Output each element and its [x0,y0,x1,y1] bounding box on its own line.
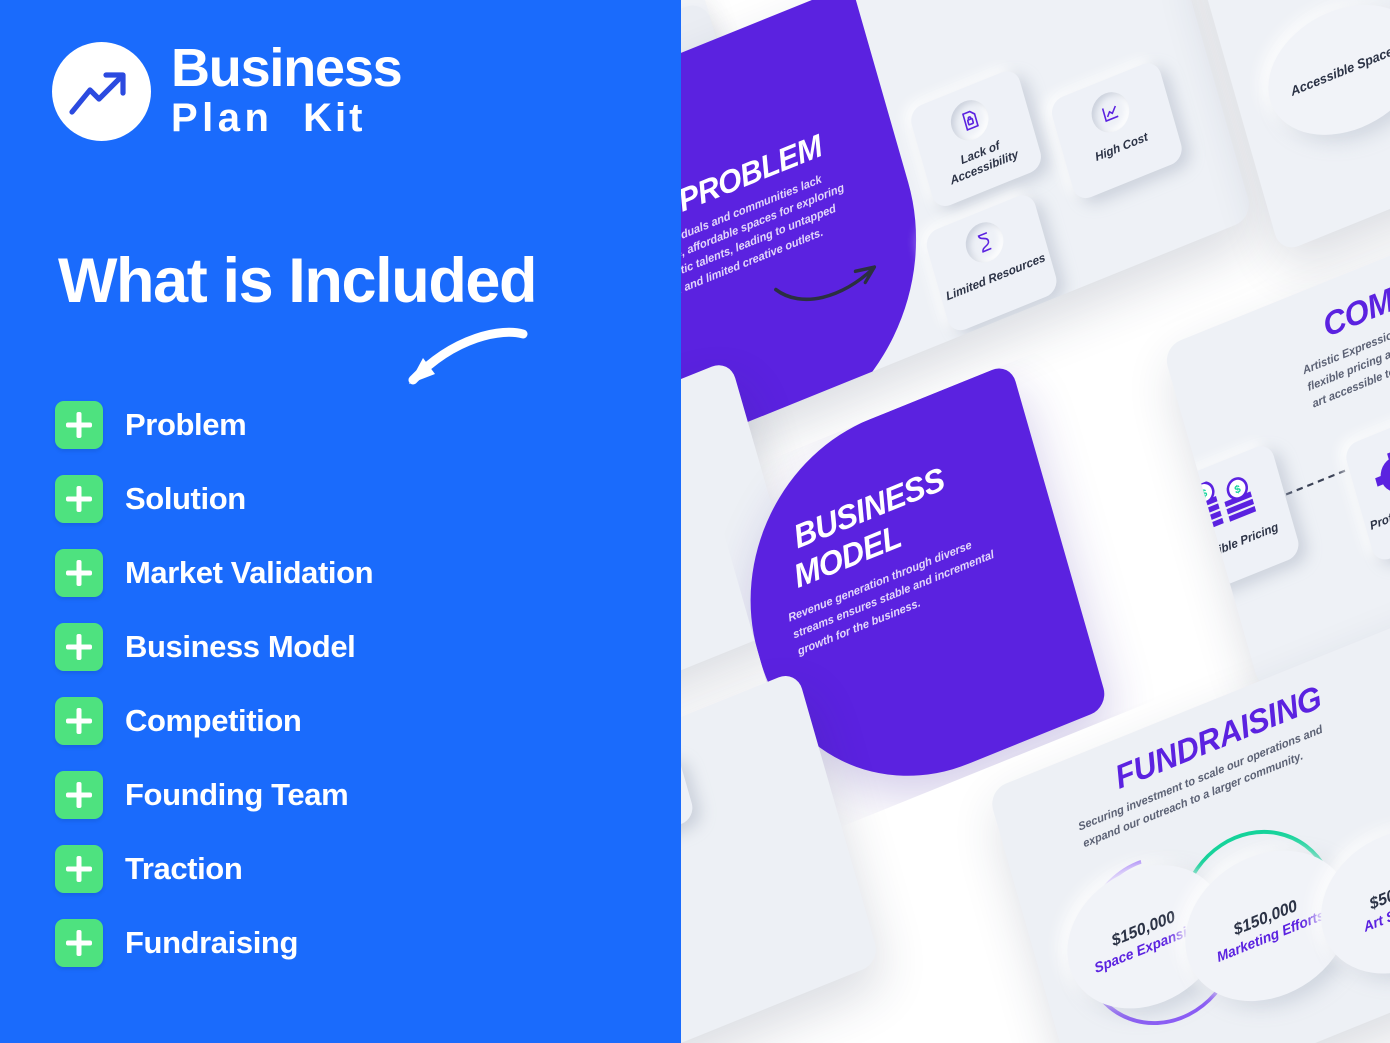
feature-item-label: Business Model [125,629,355,665]
feature-item-market-validation[interactable]: Market Validation [55,536,655,610]
problem-card-1[interactable]: Lack of Accessibility [908,67,1045,211]
feature-item-fundraising[interactable]: Fundraising [55,906,655,980]
problem-card-2[interactable]: High Cost [1048,59,1185,203]
brand-wordmark: Business Plan Kit [171,43,402,139]
brand-logo: Business Plan Kit [52,42,402,141]
locked-document-icon [946,94,993,146]
problem-card-1-label: Lack of Accessibility [924,125,1040,197]
gears-pen-icon [1361,417,1390,509]
poster-root: THE PROBLEM Many individuals and communi… [0,0,1390,1043]
brand-name-line2: Plan Kit [171,97,402,140]
plus-icon [55,697,103,745]
brand-name-plan: Plan [171,96,273,140]
problem-card-3-label: Limited Resources [940,249,1052,307]
hourglass-icon [961,216,1008,268]
feature-item-competition[interactable]: Competition [55,684,655,758]
page-title: What is Included [58,248,618,314]
plus-icon [55,771,103,819]
brand-name-kit: Kit [303,96,365,140]
plus-icon [55,549,103,597]
slide-deck-preview: THE PROBLEM Many individuals and communi… [681,0,1390,1043]
solution-card-label: Accessible Spaces [1268,32,1390,108]
solution-bubble: Accessible Spaces [1254,0,1390,158]
feature-item-label: Solution [125,481,246,517]
competition-title: COMPETITION [1319,228,1390,346]
line-chart-icon [1087,86,1134,138]
traction-card-1-label: Monthly Visitors [681,776,689,853]
included-feature-list: Problem Solution Market Validation Busin… [55,388,655,980]
problem-card-2-label: High Cost [1066,119,1178,177]
plus-icon [55,401,103,449]
plus-icon [55,845,103,893]
feature-item-problem[interactable]: Problem [55,388,655,462]
feature-item-label: Competition [125,703,301,739]
left-info-panel: Business Plan Kit What is Included Probl… [0,0,681,1043]
growth-chart-circle-icon [52,42,151,141]
feature-item-label: Fundraising [125,925,298,961]
feature-item-founding-team[interactable]: Founding Team [55,758,655,832]
feature-item-label: Founding Team [125,777,348,813]
feature-item-label: Market Validation [125,555,373,591]
plus-icon [55,623,103,671]
competition-card-2[interactable]: Professional Artists [1343,402,1390,564]
plus-icon [55,475,103,523]
feature-item-label: Traction [125,851,242,887]
deck-perspective-group: THE PROBLEM Many individuals and communi… [681,0,1390,1043]
feature-item-solution[interactable]: Solution [55,462,655,536]
traction-card-1[interactable]: Monthly Visitors [681,751,696,879]
feature-item-traction[interactable]: Traction [55,832,655,906]
problem-card-3[interactable]: Limited Resources [923,191,1060,335]
feature-item-label: Problem [125,407,246,443]
brand-name-line1: Business [171,43,402,94]
feature-item-business-model[interactable]: Business Model [55,610,655,684]
plus-icon [55,919,103,967]
